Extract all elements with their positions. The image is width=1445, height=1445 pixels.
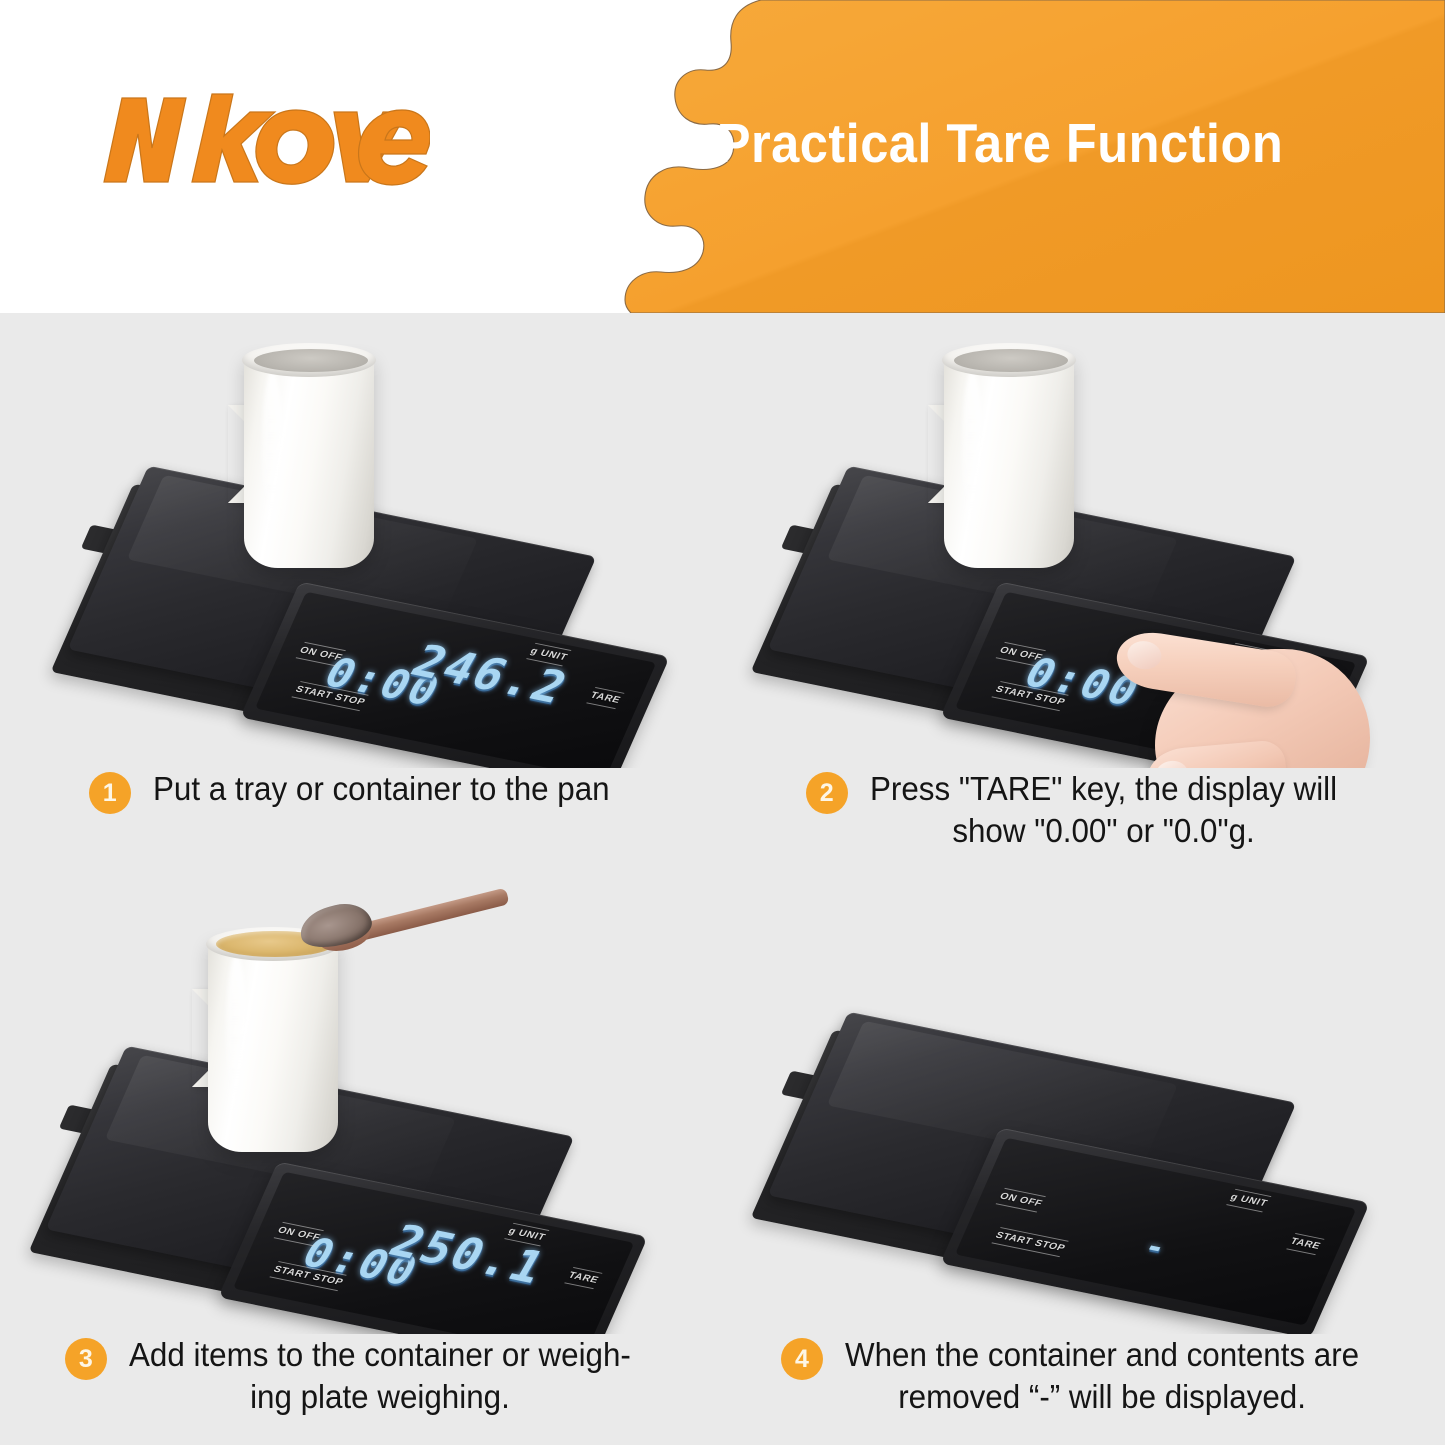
on-off-key[interactable]: ON OFF [298,645,345,663]
cocoa-powder [296,898,376,954]
step-number-badge: 2 [806,772,848,814]
lcd-panel: - ON OFF START STOP g UNIT TARE [955,1138,1356,1326]
lcd-panel: 0:00 246.2 ON OFF START STOP g UNIT TARE [255,592,656,768]
step-number-badge: 4 [781,1338,823,1380]
thumb-nail [1155,760,1189,768]
step-caption-text: Put a tray or container to the pan [153,768,610,810]
step-2-caption: 2 Press "TARE" key, the display will sho… [722,768,1445,851]
kitchen-scale-3: 0:00 250.1 ON OFF START STOP g UNIT TARE [62,979,622,1309]
step-1-photo: 0:00 246.2 ON OFF START STOP g UNIT TARE [0,313,722,768]
step-number-badge: 3 [65,1338,107,1380]
kitchen-scale-2: 0:00 0.0 ON OFF START STOP g UNIT TARE [784,399,1344,729]
step-card-1: 0:00 246.2 ON OFF START STOP g UNIT TARE… [0,313,722,879]
mug-body [208,937,338,1152]
mug-body [244,353,374,568]
step-caption-text: When the container and contents are remo… [845,1334,1359,1417]
step-4-photo: - ON OFF START STOP g UNIT TARE [722,879,1445,1334]
tare-key[interactable]: TARE [588,690,622,705]
lcd-dash-indicator: - [1137,1230,1173,1265]
tare-key[interactable]: TARE [1288,1236,1322,1251]
step-2-photo: 0:00 0.0 ON OFF START STOP g UNIT TARE [722,313,1445,768]
kitchen-scale-1: 0:00 246.2 ON OFF START STOP g UNIT TARE [84,399,644,729]
on-off-key[interactable]: ON OFF [998,645,1045,663]
scale-control-console-4: - ON OFF START STOP g UNIT TARE [940,1127,1370,1334]
index-finger-nail [1125,639,1163,672]
step-3-caption: 3 Add items to the container or weigh- i… [0,1334,722,1417]
mug-body [944,353,1074,568]
header-banner: Practical Tare Function [0,0,1445,313]
unit-key[interactable]: g UNIT [1228,1192,1269,1209]
wooden-spoon [296,881,508,965]
step-caption-text: Add items to the container or weigh- ing… [129,1334,631,1417]
step-4-caption: 4 When the container and contents are re… [722,1334,1445,1417]
mug-interior [254,349,368,372]
step-card-2: 0:00 0.0 ON OFF START STOP g UNIT TARE [722,313,1445,879]
pressing-hand [1100,627,1360,768]
step-card-4: - ON OFF START STOP g UNIT TARE 4 When t… [722,879,1445,1445]
start-stop-key[interactable]: START STOP [993,1230,1067,1253]
page-title: Practical Tare Function [632,113,1368,174]
step-card-3: 0:00 250.1 ON OFF START STOP g UNIT TARE… [0,879,722,1445]
step-1-caption: 1 Put a tray or container to the pan [0,768,722,814]
tare-key[interactable]: TARE [566,1270,600,1285]
kitchen-scale-4: - ON OFF START STOP g UNIT TARE [784,945,1344,1275]
lcd-panel: 0:00 250.1 ON OFF START STOP g UNIT TARE [233,1172,634,1334]
steps-grid: 0:00 246.2 ON OFF START STOP g UNIT TARE… [0,313,1445,1445]
step-number-badge: 1 [89,772,131,814]
on-off-key[interactable]: ON OFF [998,1191,1045,1209]
mug-interior [954,349,1068,372]
step-3-photo: 0:00 250.1 ON OFF START STOP g UNIT TARE [0,879,722,1334]
on-off-key[interactable]: ON OFF [276,1225,323,1243]
step-caption-text: Press "TARE" key, the display will show … [870,768,1337,851]
brand-logo [100,92,430,188]
